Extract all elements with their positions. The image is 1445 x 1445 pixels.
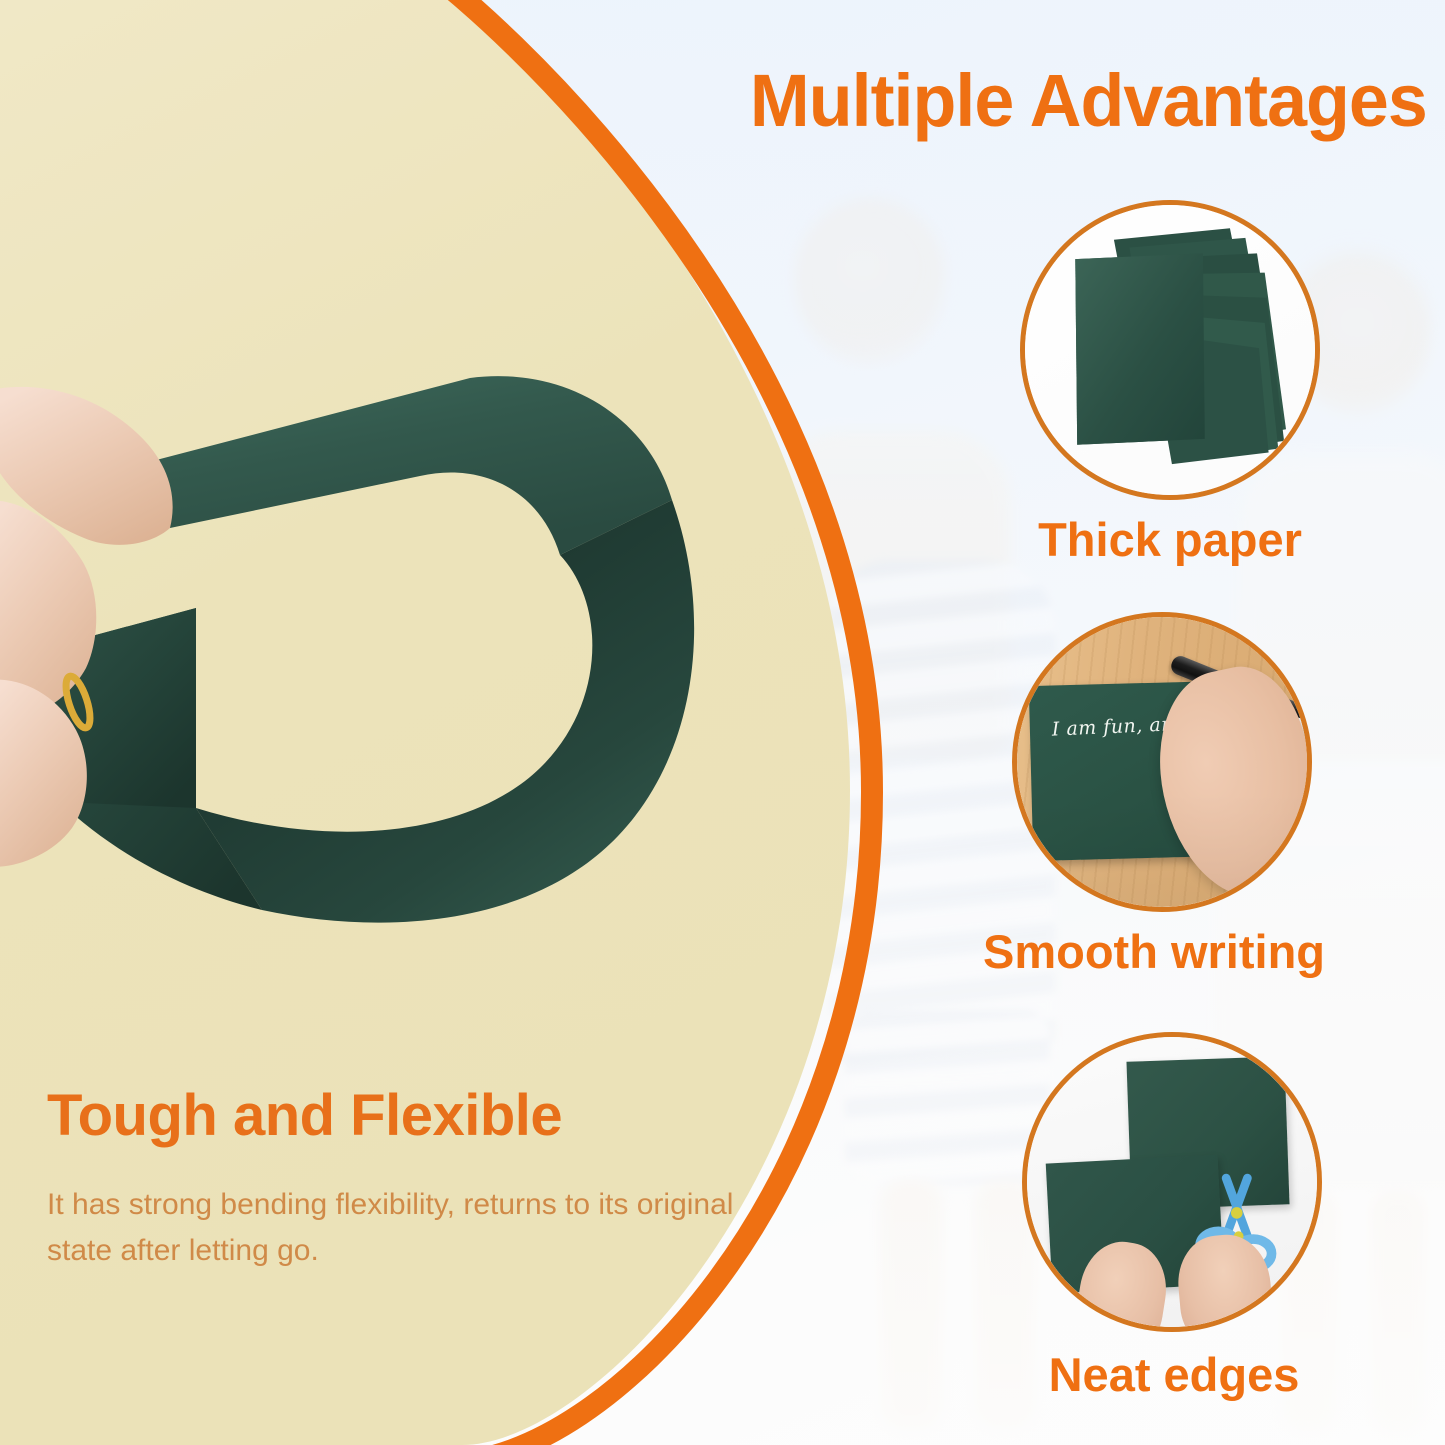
left-heading: Tough and Flexible: [47, 1082, 562, 1149]
page-title: Multiple Advantages: [750, 58, 1427, 143]
feature-caption-thick-paper: Thick paper: [910, 512, 1430, 567]
feature-smooth-writing: I am fun, and Smooth writing: [1012, 612, 1312, 912]
neat-edges-image: [1027, 1037, 1317, 1327]
feature-neat-edges: Neat edges: [1022, 1032, 1322, 1332]
feature-caption-smooth-writing: Smooth writing: [894, 924, 1414, 979]
feature-circle-neat-edges: [1022, 1032, 1322, 1332]
green-card-upper: [118, 376, 672, 555]
feature-circle-smooth-writing: I am fun, and: [1012, 612, 1312, 912]
green-card-bend: [196, 500, 694, 923]
thick-paper-image: [1025, 205, 1315, 495]
feature-caption-neat-edges: Neat edges: [914, 1347, 1434, 1402]
image-shadow-overlay: [1017, 617, 1307, 907]
feature-circle-thick-paper: [1020, 200, 1320, 500]
left-body-text: It has strong bending flexibility, retur…: [47, 1182, 737, 1273]
smooth-writing-image: I am fun, and: [1017, 617, 1307, 907]
infographic-poster: Multiple Advantages Tough and Flexible I…: [0, 0, 1445, 1445]
scissors-icon: [1027, 1037, 1317, 1327]
feature-thick-paper: Thick paper: [1020, 200, 1320, 500]
stacked-sheets-illustration: [1025, 205, 1315, 495]
hero-product-photo: [0, 350, 740, 970]
